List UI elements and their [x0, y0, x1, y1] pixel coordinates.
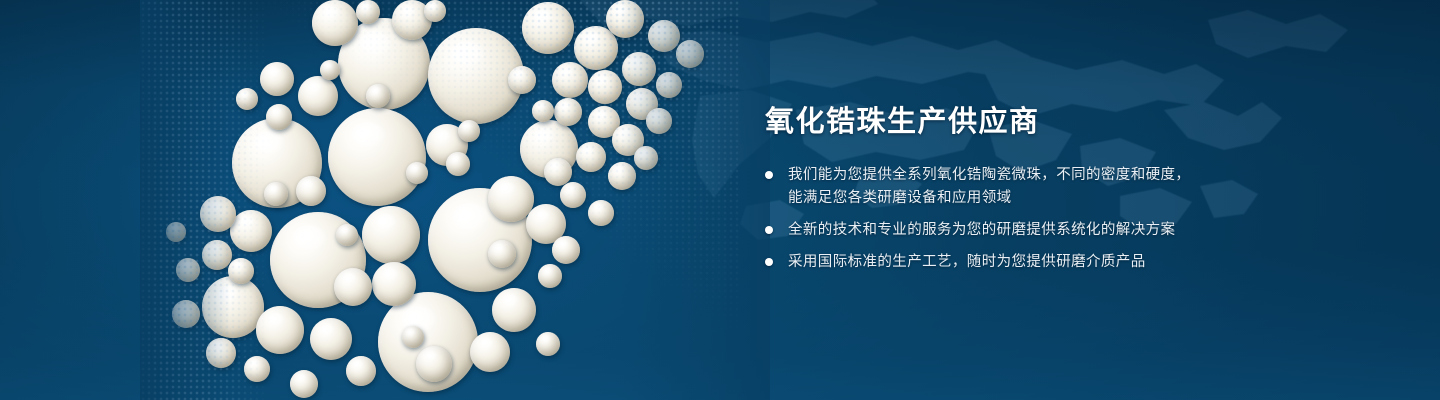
bead — [402, 326, 424, 348]
bead — [508, 66, 536, 94]
list-item-text: 全新的技术和专业的服务为您的研磨提供系统化的解决方案 — [788, 219, 1175, 242]
bead — [312, 0, 358, 46]
bead — [236, 88, 258, 110]
bead — [298, 76, 338, 116]
bead — [328, 108, 426, 206]
bullet-dot-icon — [765, 258, 773, 266]
bead — [290, 370, 318, 398]
bead — [230, 210, 272, 252]
list-item-text: 采用国际标准的生产工艺，随时为您提供研磨介质产品 — [788, 251, 1146, 274]
bead — [372, 262, 416, 306]
bead — [296, 176, 326, 206]
bead — [424, 0, 446, 22]
list-item-text: 我们能为您提供全系列氧化锆陶瓷微珠，不同的密度和硬度， 能满足您各类研磨设备和应… — [788, 164, 1190, 210]
bead — [522, 2, 574, 54]
feature-list: 我们能为您提供全系列氧化锆陶瓷微珠，不同的密度和硬度， 能满足您各类研磨设备和应… — [765, 164, 1305, 274]
bead — [576, 142, 606, 172]
bead — [554, 98, 582, 126]
bead — [334, 268, 372, 306]
bead — [532, 100, 554, 122]
product-photo-zirconia-beads — [140, 0, 740, 400]
bead — [552, 62, 588, 98]
photo-left-blend — [140, 0, 230, 400]
bead — [552, 236, 580, 264]
bead — [446, 152, 470, 176]
bead — [458, 120, 480, 142]
bead — [320, 60, 340, 80]
bead — [588, 70, 622, 104]
photo-right-blend — [620, 0, 770, 400]
bead — [244, 356, 270, 382]
list-item-line-1: 我们能为您提供全系列氧化锆陶瓷微珠，不同的密度和硬度， — [788, 167, 1190, 183]
bead — [366, 84, 390, 108]
bead — [264, 182, 288, 206]
list-item: 全新的技术和专业的服务为您的研磨提供系统化的解决方案 — [765, 219, 1305, 242]
list-item-line-2: 能满足您各类研磨设备和应用领域 — [788, 187, 1190, 210]
list-item: 采用国际标准的生产工艺，随时为您提供研磨介质产品 — [765, 251, 1305, 274]
bead — [260, 62, 294, 96]
page-title: 氧化锆珠生产供应商 — [765, 104, 1305, 140]
bead — [310, 318, 352, 360]
bead — [588, 200, 614, 226]
bullet-dot-icon — [765, 226, 773, 234]
bead — [536, 332, 560, 356]
bead — [538, 264, 562, 288]
bead — [266, 104, 292, 130]
bead — [416, 346, 452, 382]
bead — [492, 288, 536, 332]
bead — [470, 332, 510, 372]
hero-banner: 氧化锆珠生产供应商 我们能为您提供全系列氧化锆陶瓷微珠，不同的密度和硬度， 能满… — [0, 0, 1440, 400]
bead — [346, 356, 376, 386]
bead — [406, 162, 428, 184]
bead — [560, 182, 586, 208]
bead — [488, 240, 516, 268]
bead — [362, 206, 420, 264]
banner-content: 氧化锆珠生产供应商 我们能为您提供全系列氧化锆陶瓷微珠，不同的密度和硬度， 能满… — [765, 104, 1305, 283]
bead — [356, 0, 380, 24]
bead — [228, 258, 254, 284]
bullet-dot-icon — [765, 171, 773, 179]
bead — [336, 224, 358, 246]
list-item: 我们能为您提供全系列氧化锆陶瓷微珠，不同的密度和硬度， 能满足您各类研磨设备和应… — [765, 164, 1305, 210]
bead — [256, 306, 304, 354]
